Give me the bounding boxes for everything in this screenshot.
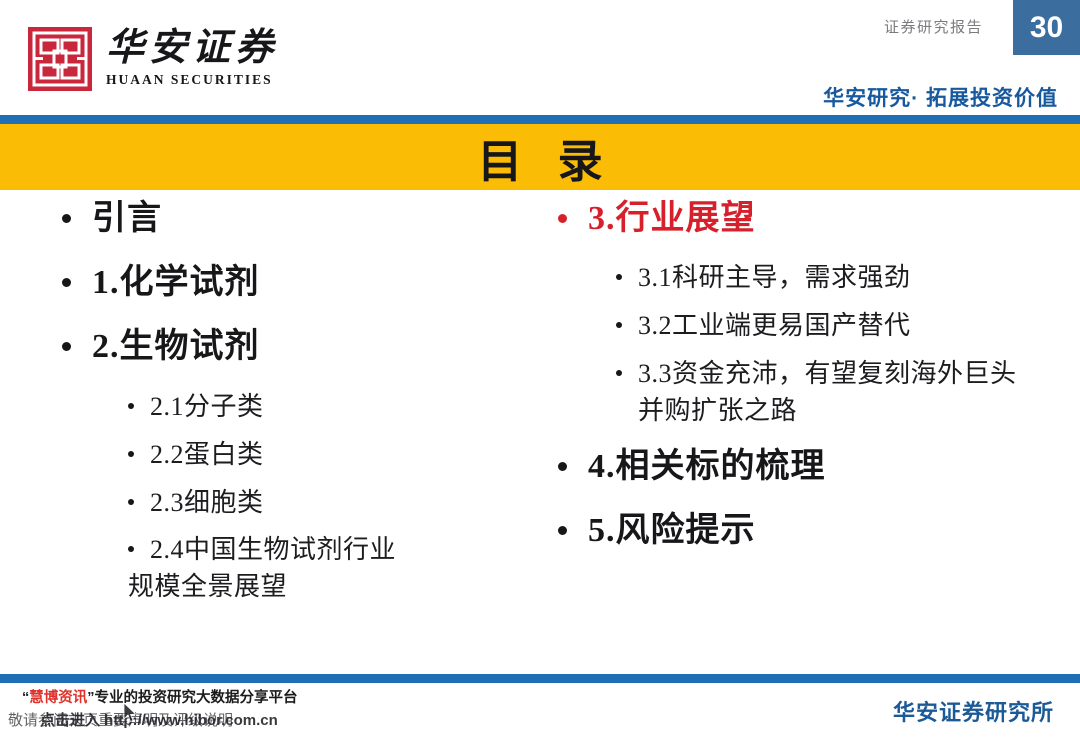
toc-subitem-label-wrap: 规模全景展望: [128, 569, 396, 606]
toc-item-label: 引言: [92, 196, 162, 242]
toc-subitem-capital-ma-path[interactable]: 3.3资金充沛，有望复刻海外巨头 并购扩张之路: [616, 356, 1063, 430]
bullet-icon: [558, 214, 567, 223]
toc-subitem-label: 2.2蛋白类: [150, 437, 264, 474]
toc-subitem-label-group: 3.3资金充沛，有望复刻海外巨头 并购扩张之路: [638, 356, 1017, 430]
toc-item-bio-reagents[interactable]: 2.生物试剂: [62, 324, 532, 370]
toc-subitem-china-market-outlook[interactable]: 2.4中国生物试剂行业 规模全景展望: [128, 532, 532, 606]
page-title: 目 录: [0, 124, 1080, 190]
toc-subitem-label: 2.3细胞类: [150, 485, 264, 522]
bullet-icon: [128, 546, 134, 552]
toc-subitems-industry-outlook: 3.1科研主导，需求强劲 3.2工业端更易国产替代 3.3资金充沛，有望复刻海外…: [616, 260, 1063, 430]
page-number-badge: 30: [1013, 0, 1080, 55]
logo-text-block: 华安证券 HUAAN SECURITIES: [106, 29, 278, 88]
footer-organization: 华安证券研究所: [893, 695, 1054, 727]
toc-subitem-protein[interactable]: 2.2蛋白类: [128, 437, 532, 474]
toc-subitem-industrial-localization[interactable]: 3.2工业端更易国产替代: [616, 308, 1063, 345]
bullet-icon: [62, 214, 71, 223]
bullet-icon: [616, 274, 622, 280]
table-of-contents: 引言 1.化学试剂 2.生物试剂 2.1分子类 2.2蛋白类: [0, 196, 1080, 662]
bullet-icon: [558, 526, 567, 535]
company-logo: 华安证券 HUAAN SECURITIES: [28, 27, 278, 91]
bullet-icon: [62, 278, 71, 287]
header-blue-divider: [0, 115, 1080, 124]
cursor-pointer-icon: [123, 702, 137, 724]
toc-subitem-label: 3.3资金充沛，有望复刻海外巨头: [638, 359, 1017, 388]
watermark-link[interactable]: 点击进入 http://www.hibor.com.cn: [40, 709, 278, 730]
toc-subitem-label-group: 2.4中国生物试剂行业 规模全景展望: [150, 532, 396, 606]
bullet-icon: [558, 462, 567, 471]
header-tagline: 华安研究· 拓展投资价值: [823, 82, 1058, 112]
toc-subitem-label: 3.1科研主导，需求强劲: [638, 260, 911, 297]
toc-right-column: 3.行业展望 3.1科研主导，需求强劲 3.2工业端更易国产替代 3.3资金充沛…: [558, 196, 1063, 572]
report-type-label: 证券研究报告: [884, 16, 983, 37]
toc-item-label: 1.化学试剂: [92, 260, 260, 306]
watermark-platform-note: “慧博资讯”专业的投资研究大数据分享平台: [22, 686, 298, 707]
slide-page: 华安证券 HUAAN SECURITIES 证券研究报告 30 华安研究· 拓展…: [0, 0, 1080, 737]
huaan-seal-icon: [28, 27, 92, 91]
bullet-icon: [616, 370, 622, 376]
bullet-icon: [62, 342, 71, 351]
toc-item-label: 2.生物试剂: [92, 324, 260, 370]
toc-item-intro[interactable]: 引言: [62, 196, 532, 242]
toc-item-risk-warning[interactable]: 5.风险提示: [558, 508, 1063, 554]
toc-item-industry-outlook[interactable]: 3.行业展望: [558, 196, 1063, 242]
toc-subitem-label: 2.4中国生物试剂行业: [150, 535, 396, 564]
toc-subitem-research-driven[interactable]: 3.1科研主导，需求强劲: [616, 260, 1063, 297]
toc-item-chemical-reagents[interactable]: 1.化学试剂: [62, 260, 532, 306]
toc-subitem-molecular[interactable]: 2.1分子类: [128, 389, 532, 426]
bullet-icon: [128, 499, 134, 505]
toc-left-column: 引言 1.化学试剂 2.生物试剂 2.1分子类 2.2蛋白类: [62, 196, 532, 617]
toc-item-label: 4.相关标的梳理: [588, 444, 826, 490]
bullet-icon: [128, 451, 134, 457]
bullet-icon: [128, 403, 134, 409]
toc-subitem-label: 2.1分子类: [150, 389, 264, 426]
watermark-brand: 慧博资讯: [29, 690, 87, 706]
logo-company-name-en: HUAAN SECURITIES: [106, 72, 278, 88]
logo-company-name-cn: 华安证券: [106, 29, 278, 69]
toc-subitems-bio-reagents: 2.1分子类 2.2蛋白类 2.3细胞类 2.4中国生物试剂行业 规模全景展望: [128, 389, 532, 607]
toc-item-related-targets[interactable]: 4.相关标的梳理: [558, 444, 1063, 490]
slide-header: 华安证券 HUAAN SECURITIES 证券研究报告 30 华安研究· 拓展…: [0, 0, 1080, 115]
footer-blue-divider: [0, 674, 1080, 683]
bullet-icon: [616, 322, 622, 328]
toc-item-label: 5.风险提示: [588, 508, 756, 554]
toc-subitem-cell[interactable]: 2.3细胞类: [128, 485, 532, 522]
title-band: 目 录: [0, 124, 1080, 190]
toc-item-label: 3.行业展望: [588, 196, 756, 242]
toc-subitem-label-wrap: 并购扩张之路: [638, 393, 1017, 430]
quote-close: ”: [87, 690, 94, 706]
toc-subitem-label: 3.2工业端更易国产替代: [638, 308, 911, 345]
